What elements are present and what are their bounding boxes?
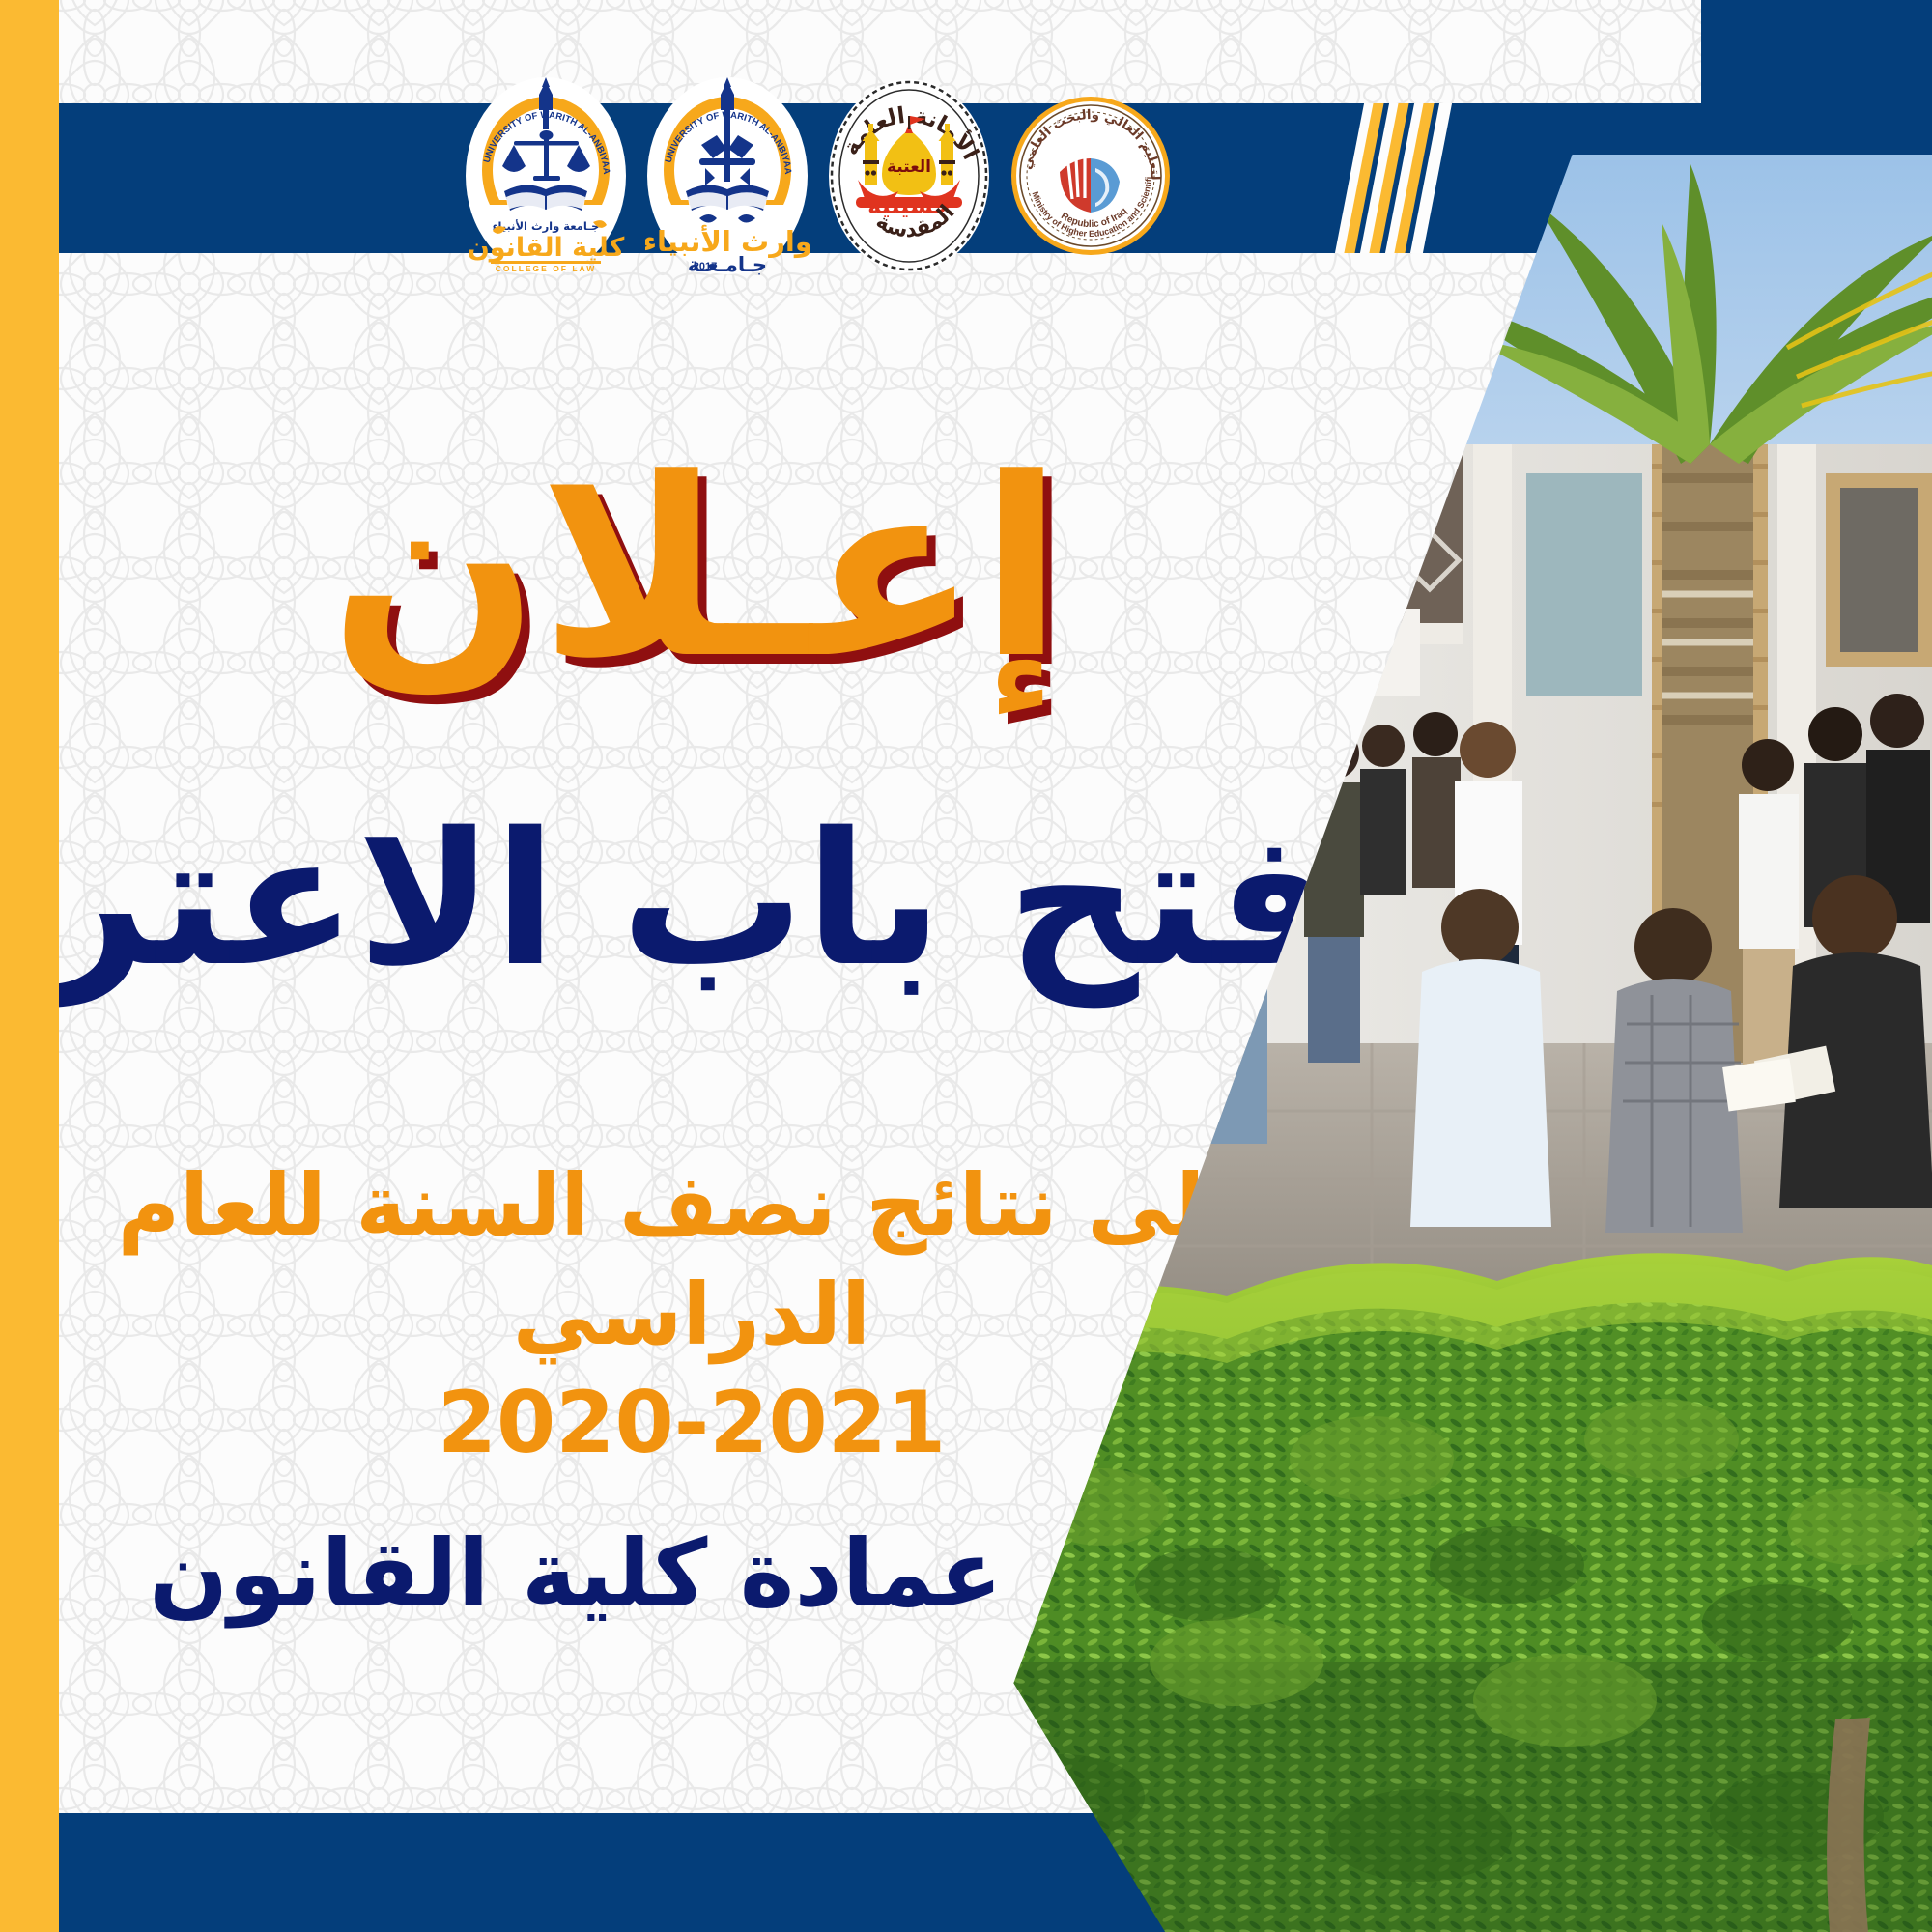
poster-root: UNIVERSITY OF WARITH AL-ANBIYAA جـامعة و… <box>0 0 1932 1932</box>
imam-hussein-holy-shrine-logo: الأمانة العامة <box>827 75 991 276</box>
svg-text:العتبة: العتبة <box>887 157 931 177</box>
left-accent-stripe <box>0 0 59 1932</box>
logo-row: UNIVERSITY OF WARITH AL-ANBIYAA جـامعة و… <box>464 75 1140 276</box>
svg-text:جـامعة وارث الأنبياء: جـامعة وارث الأنبياء <box>493 219 600 234</box>
poster-headline: فتح باب الاعتراض <box>59 804 1334 997</box>
university-of-warith-al-anbiyaa-logo: UNIVERSITY OF WARITH AL-ANBIYAA وارث الأ… <box>645 75 810 276</box>
announcement-kicker: إعـلان <box>59 446 1334 693</box>
svg-text:COLLEGE OF LAW: COLLEGE OF LAW <box>496 264 597 273</box>
subheadline-text: على نتائج نصف السنة للعام الدراسي <box>118 1155 1266 1364</box>
header-yellow-diagonal-stripes <box>1333 103 1488 253</box>
svg-text:2017: 2017 <box>694 261 717 272</box>
college-of-law-logo: UNIVERSITY OF WARITH AL-ANBIYAA جـامعة و… <box>464 75 628 276</box>
svg-text:كلية القانون: كلية القانون <box>468 233 625 263</box>
ministry-of-higher-education-logo: وزارة التعليم العالي والبحث العلمي Repub… <box>1009 75 1173 276</box>
poster-signature: عمادة كلية القانون <box>59 1519 1093 1630</box>
